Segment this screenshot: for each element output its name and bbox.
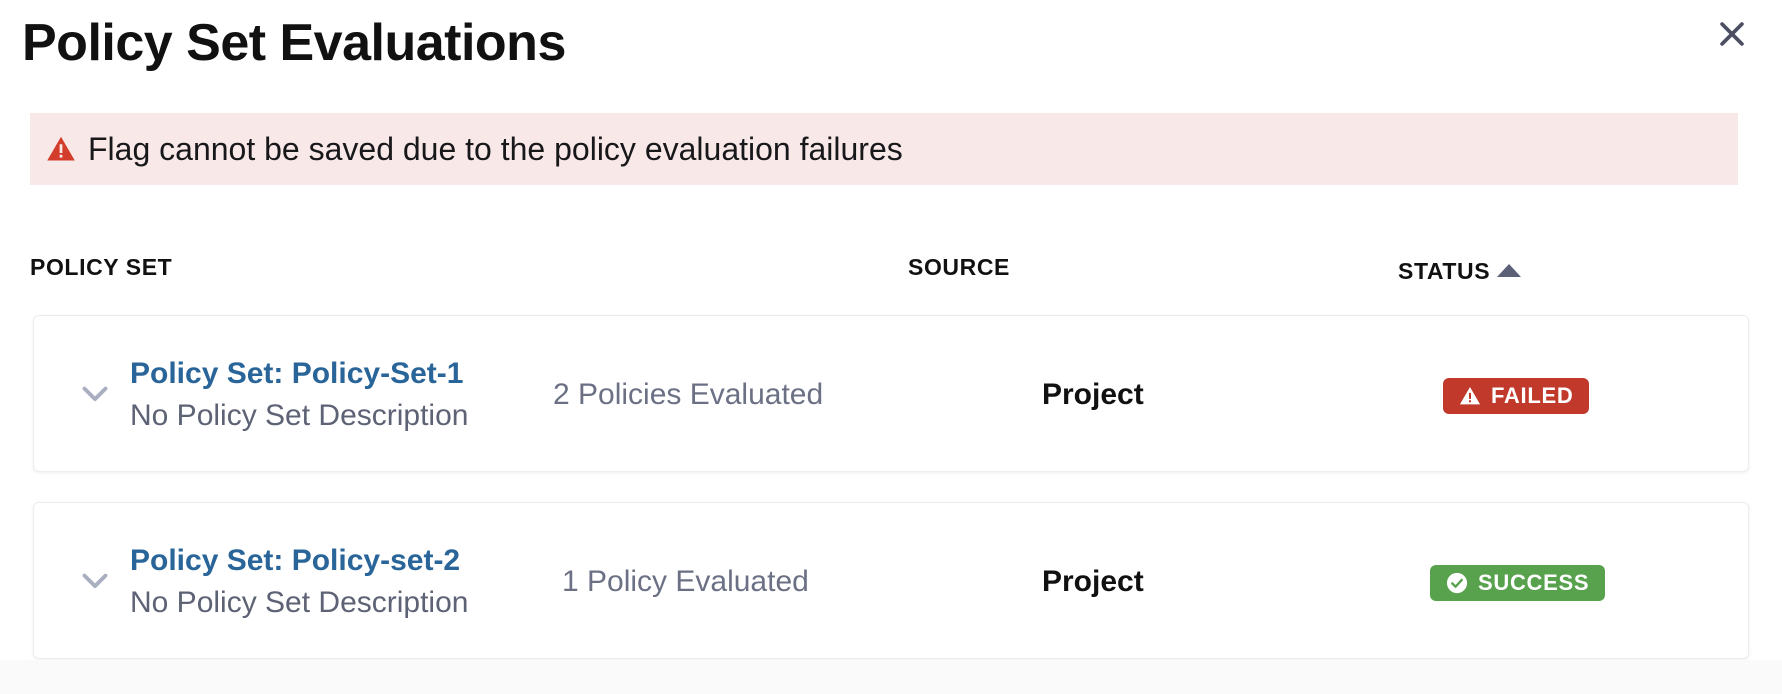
chevron-down-icon[interactable] (74, 372, 116, 414)
warning-triangle-icon (46, 134, 76, 164)
modal-header: Policy Set Evaluations (0, 0, 1782, 100)
policies-evaluated-count: 2 Policies Evaluated (553, 374, 823, 416)
policy-set-link[interactable]: Policy Set: Policy-Set-1 (130, 353, 560, 395)
policy-set-description: No Policy Set Description (130, 395, 560, 437)
close-icon (1715, 17, 1749, 51)
column-header-status[interactable]: STATUS (1398, 257, 1490, 285)
policy-set-evaluations-modal: Policy Set Evaluations Flag cannot be sa… (0, 0, 1782, 694)
error-alert-banner: Flag cannot be saved due to the policy e… (30, 113, 1738, 185)
status-badge-label: FAILED (1491, 384, 1573, 408)
triangle-up-icon[interactable] (1497, 264, 1521, 277)
column-header-source: SOURCE (908, 253, 1010, 281)
policy-set-name-block: Policy Set: Policy-set-2 No Policy Set D… (130, 540, 560, 624)
close-button[interactable] (1706, 8, 1758, 60)
table-header: POLICY SET SOURCE STATUS (0, 240, 1782, 300)
policies-evaluated-count: 1 Policy Evaluated (562, 561, 809, 603)
check-circle-icon (1446, 572, 1468, 594)
policy-set-list: Policy Set: Policy-Set-1 No Policy Set D… (0, 315, 1782, 689)
modal-footer-strip (0, 660, 1782, 694)
policy-set-description: No Policy Set Description (130, 582, 560, 624)
policy-set-source: Project (1042, 561, 1144, 603)
status-badge: SUCCESS (1430, 565, 1605, 601)
policy-set-name-block: Policy Set: Policy-Set-1 No Policy Set D… (130, 353, 560, 437)
status-badge-label: SUCCESS (1478, 571, 1589, 595)
page-title: Policy Set Evaluations (22, 10, 566, 76)
chevron-down-icon[interactable] (74, 559, 116, 601)
column-header-policy-set: POLICY SET (30, 253, 172, 281)
policy-set-source: Project (1042, 374, 1144, 416)
table-row[interactable]: Policy Set: Policy-set-2 No Policy Set D… (33, 502, 1749, 659)
table-row[interactable]: Policy Set: Policy-Set-1 No Policy Set D… (33, 315, 1749, 472)
warning-triangle-icon (1459, 385, 1481, 407)
status-badge: FAILED (1443, 378, 1589, 414)
policy-set-link[interactable]: Policy Set: Policy-set-2 (130, 540, 560, 582)
error-alert-message: Flag cannot be saved due to the policy e… (88, 130, 903, 168)
